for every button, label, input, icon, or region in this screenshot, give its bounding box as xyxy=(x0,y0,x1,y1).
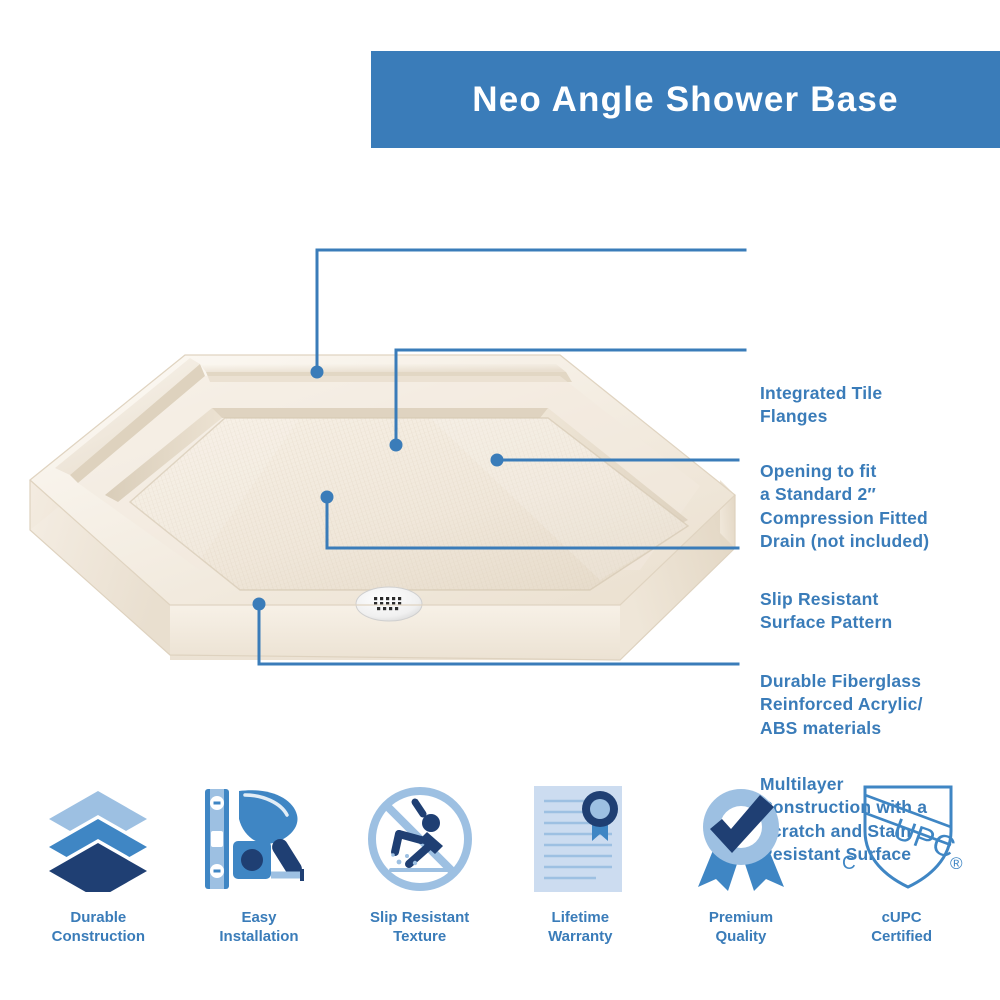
feature-caption: Easy Installation xyxy=(219,908,298,946)
tile-flange-right xyxy=(200,364,566,372)
feature-durable-construction: Durable Construction xyxy=(23,780,173,946)
stacked-layers-icon xyxy=(43,780,153,898)
callout-label-integrated-tile-flanges: Integrated Tile Flanges xyxy=(760,382,882,429)
feature-cupc-certified: UPC C ® cUPC Certified xyxy=(827,780,977,946)
no-slip-icon xyxy=(365,780,475,898)
upc-shield-icon: UPC C ® xyxy=(837,780,967,898)
feature-caption: Lifetime Warranty xyxy=(548,908,612,946)
feature-lifetime-warranty: Lifetime Warranty xyxy=(505,780,655,946)
page-title: Neo Angle Shower Base xyxy=(472,80,899,120)
upc-shield-text: UPC xyxy=(888,813,959,866)
feature-caption: Durable Construction xyxy=(52,908,145,946)
feature-slip-resistant-texture: Slip Resistant Texture xyxy=(345,780,495,946)
feature-caption: Slip Resistant Texture xyxy=(370,908,469,946)
feature-caption: cUPC Certified xyxy=(871,908,932,946)
callout-label-durable-fiberglass: Durable Fiberglass Reinforced Acrylic/ A… xyxy=(760,670,923,740)
upc-registered-mark: ® xyxy=(950,854,963,873)
callout-label-drain-opening: Opening to fit a Standard 2″ Compression… xyxy=(760,460,929,553)
rosette-check-icon xyxy=(686,780,796,898)
feature-strip: Durable Construction xyxy=(0,780,1000,995)
callout-label-slip-resistant-surface-pattern: Slip Resistant Surface Pattern xyxy=(760,588,892,635)
upc-left-mark: C xyxy=(842,853,856,874)
product-infographic: Neo Angle Shower Base xyxy=(0,0,1000,1000)
certificate-rosette-icon xyxy=(530,780,630,898)
drain-cover xyxy=(356,587,422,621)
feature-easy-installation: Easy Installation xyxy=(184,780,334,946)
title-banner: Neo Angle Shower Base xyxy=(371,51,1000,148)
product-hero: Integrated Tile Flanges Opening to fit a… xyxy=(0,150,1000,775)
feature-premium-quality: Premium Quality xyxy=(666,780,816,946)
feature-caption: Premium Quality xyxy=(709,908,773,946)
basin-wall-back xyxy=(212,408,556,418)
level-trowel-tape-icon xyxy=(201,780,316,898)
